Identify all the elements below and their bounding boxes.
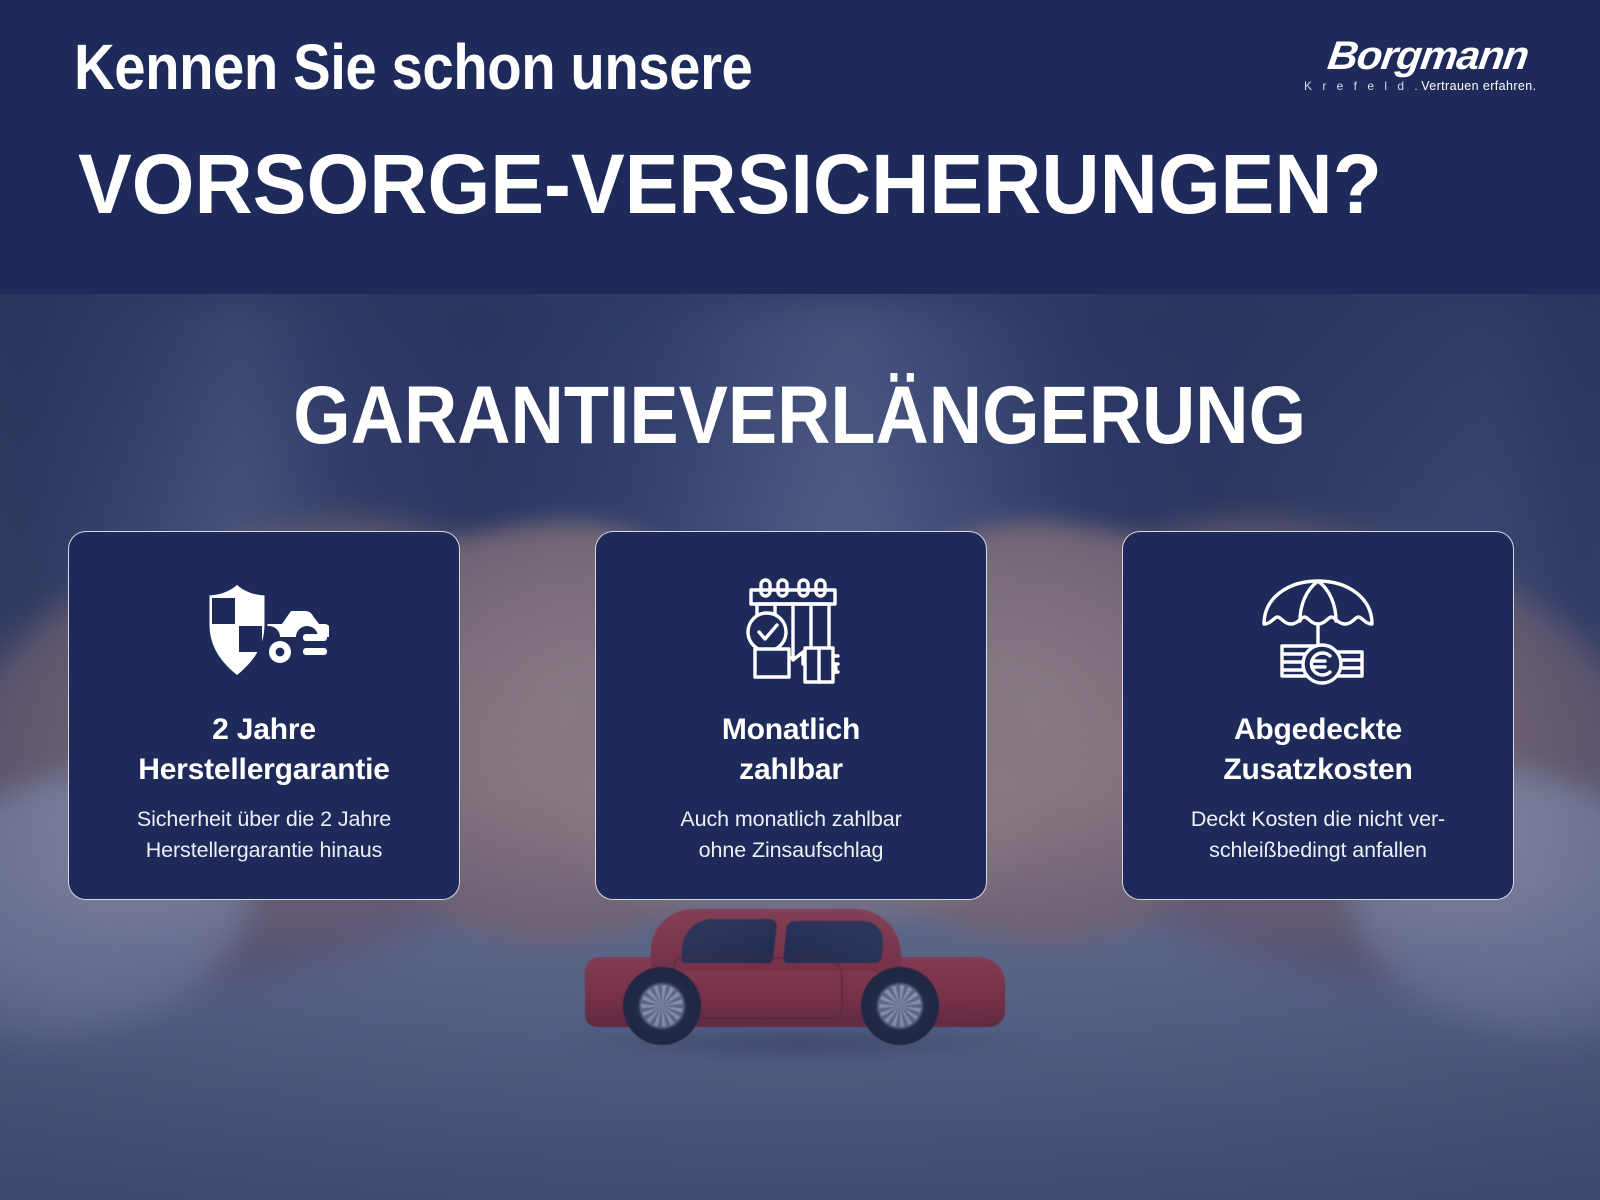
card-desc-line2: schleißbedingt anfallen (1191, 835, 1445, 866)
logo-claim: Vertrauen erfahren. (1421, 79, 1536, 93)
card-desc-line1: Sicherheit über die 2 Jahre (137, 804, 391, 835)
feature-card-title: 2 Jahre Herstellergarantie (138, 710, 390, 790)
card-title-line1: 2 Jahre (138, 710, 390, 750)
toy-car-front-wheel (861, 967, 939, 1045)
feature-card-title: Abgedeckte Zusatzkosten (1223, 710, 1412, 790)
card-desc-line1: Auch monatlich zahlbar (680, 804, 901, 835)
main-title-text: GARANTIEVERLÄNGERUNG (294, 372, 1307, 461)
logo-tagline: K r e f e l d . Vertrauen erfahren. (1304, 79, 1522, 93)
card-title-line2: Zusatzkosten (1223, 750, 1412, 790)
card-title-line2: zahlbar (722, 750, 860, 790)
card-desc-line1: Deckt Kosten die nicht ver- (1191, 804, 1445, 835)
feature-card-monthly-payment[interactable]: Monatlich zahlbar Auch monatlich zahlbar… (595, 531, 987, 900)
card-title-line1: Monatlich (722, 710, 860, 750)
logo-wordmark: Borgmann (1298, 36, 1530, 76)
toy-car (585, 915, 1005, 1045)
feature-card-warranty[interactable]: 2 Jahre Herstellergarantie Sicherheit üb… (68, 531, 460, 900)
feature-card-title: Monatlich zahlbar (722, 710, 860, 790)
promo-banner: Kennen Sie schon unsere VORSORGE-VERSICH… (0, 0, 1600, 1200)
headline-large: VORSORGE-VERSICHERUNGEN? (78, 140, 1382, 228)
headline-small: Kennen Sie schon unsere (74, 32, 752, 102)
shield-car-icon (199, 570, 329, 692)
feature-card-description: Sicherheit über die 2 Jahre Herstellerga… (137, 804, 391, 866)
toy-car-rear-wheel (623, 967, 701, 1045)
card-desc-line2: Herstellergarantie hinaus (137, 835, 391, 866)
feature-card-extra-costs[interactable]: Abgedeckte Zusatzkosten Deckt Kosten die… (1122, 531, 1514, 900)
feature-card-description: Auch monatlich zahlbar ohne Zinsaufschla… (680, 804, 901, 866)
card-desc-line2: ohne Zinsaufschlag (680, 835, 901, 866)
feature-cards: 2 Jahre Herstellergarantie Sicherheit üb… (68, 531, 1514, 900)
main-title: GARANTIEVERLÄNGERUNG (0, 372, 1600, 461)
calendar-money-icon (733, 570, 849, 692)
logo-city: K r e f e l d . (1304, 79, 1421, 93)
borgmann-logo[interactable]: Borgmann K r e f e l d . Vertrauen erfah… (1304, 36, 1522, 102)
card-title-line1: Abgedeckte (1223, 710, 1412, 750)
umbrella-coins-icon (1256, 570, 1380, 692)
card-title-line2: Herstellergarantie (138, 750, 390, 790)
feature-card-description: Deckt Kosten die nicht ver- schleißbedin… (1191, 804, 1445, 866)
